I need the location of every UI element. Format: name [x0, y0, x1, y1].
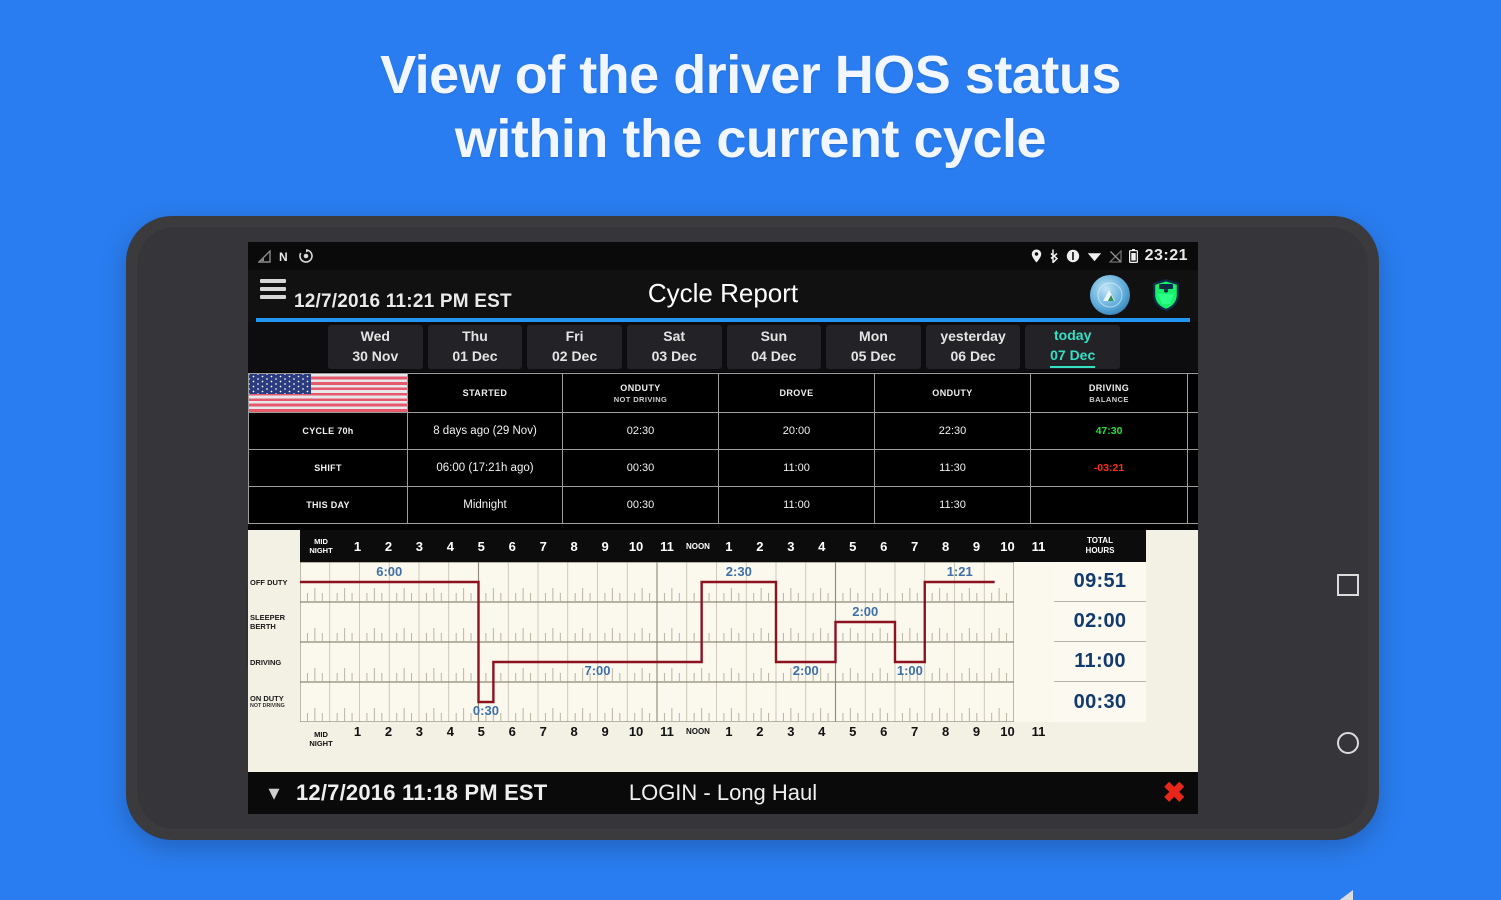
- balance-value: -03:21: [1094, 462, 1124, 474]
- total-line2: HOURS: [1086, 546, 1115, 556]
- hour-tick: 2: [744, 530, 775, 562]
- date-tab-today[interactable]: today 07 Dec: [1025, 325, 1120, 369]
- noon-tick: NOON: [682, 530, 713, 562]
- graph-hour-header: MID NIGHT 1 2 3 4 5 6 7 8 9 10 11 NOON 1…: [300, 530, 1146, 562]
- svg-text:0:30: 0:30: [473, 703, 499, 718]
- header-label: ONDUTY: [932, 388, 972, 398]
- row-drove: 11:00: [719, 487, 875, 523]
- phone-screen: N 23:21: [248, 242, 1198, 814]
- sync-icon: [299, 249, 313, 263]
- svg-text:1:21: 1:21: [947, 564, 973, 579]
- hour-tick: 7: [528, 722, 559, 756]
- date-tab-day: Fri: [566, 327, 584, 347]
- no-signal-icon: [1109, 250, 1122, 263]
- hour-tick: 3: [775, 530, 806, 562]
- summary-row-cycle: CYCLE 70h 8 days ago (29 Nov) 02:30 20:0…: [248, 413, 1198, 450]
- hour-tick: 6: [497, 530, 528, 562]
- graph-row-label-on-duty: ON DUTY NOT DRIVING: [248, 682, 300, 722]
- hour-tick: 11: [652, 722, 683, 756]
- hour-tick: 11: [1023, 722, 1054, 756]
- hour-tick: 3: [404, 722, 435, 756]
- hour-tick: 7: [528, 530, 559, 562]
- page-title: Cycle Report: [248, 278, 1198, 309]
- row-name: CYCLE 70h: [248, 413, 408, 449]
- summary-header-driving-balance: DRIVING BALANCE: [1031, 374, 1188, 412]
- globe-eld-icon[interactable]: [1090, 275, 1130, 315]
- graph-total-hours-header: TOTAL HOURS: [1054, 530, 1146, 562]
- row-label-text: DRIVING: [250, 658, 281, 667]
- duty-status-trace: 6:000:307:002:302:002:001:001:21: [300, 562, 1014, 722]
- hour-tick: 8: [930, 530, 961, 562]
- summary-header-started: STARTED: [408, 374, 563, 412]
- graph-body: OFF DUTY SLEEPER BERTH DRIVING ON DUTY N…: [300, 562, 1146, 722]
- date-tab-date: 05 Dec: [851, 347, 896, 367]
- graph-row-label-driving: DRIVING: [248, 642, 300, 682]
- graph-midnight-label: MID NIGHT: [300, 530, 342, 562]
- hour-tick: 1: [713, 722, 744, 756]
- hour-tick: 4: [435, 530, 466, 562]
- date-tab-0[interactable]: Wed 30 Nov: [328, 325, 423, 369]
- hour-tick: 11: [652, 530, 683, 562]
- header-sublabel: NOT DRIVING: [614, 395, 668, 404]
- hour-tick: 11: [1023, 530, 1054, 562]
- hour-tick: 7: [899, 722, 930, 756]
- midnight-line2: NIGHT: [309, 739, 332, 748]
- summary-header-onduty: ONDUTY: [875, 374, 1031, 412]
- wifi-icon: [1087, 250, 1102, 262]
- duty-status-graph-card: MID NIGHT 1 2 3 4 5 6 7 8 9 10 11 NOON 1…: [248, 530, 1198, 778]
- total-driving: 11:00: [1054, 642, 1146, 682]
- date-tab-4[interactable]: Sun 04 Dec: [727, 325, 822, 369]
- hour-tick: 3: [404, 530, 435, 562]
- date-tab-strip[interactable]: Wed 30 Nov Thu 01 Dec Fri 02 Dec Sat 03 …: [248, 322, 1198, 372]
- row-started: 8 days ago (29 Nov): [408, 413, 563, 449]
- hos-summary-table: STARTED ONDUTY NOT DRIVING DROVE ONDUTY …: [248, 372, 1198, 524]
- date-tab-day: Thu: [462, 327, 488, 347]
- hour-tick: 1: [342, 722, 373, 756]
- us-flag-icon: [248, 374, 408, 412]
- row-name: THIS DAY: [248, 487, 408, 523]
- promo-headline: View of the driver HOS status within the…: [0, 44, 1501, 171]
- date-tab-date: 30 Nov: [352, 347, 398, 367]
- hour-tick: 4: [435, 722, 466, 756]
- row-label-text: ON DUTY: [250, 694, 284, 703]
- date-tab-day: Wed: [361, 327, 390, 347]
- date-tab-3[interactable]: Sat 03 Dec: [627, 325, 722, 369]
- summary-row-shift: SHIFT 06:00 (17:21h ago) 00:30 11:00 11:…: [248, 450, 1198, 487]
- hour-tick: 4: [806, 722, 837, 756]
- event-description: LOGIN - Long Haul: [248, 780, 1198, 806]
- promo-headline-line1: View of the driver HOS status: [380, 45, 1121, 105]
- graph-row-label-sleeper-berth: SLEEPER BERTH: [248, 602, 300, 642]
- battery-icon: [1129, 249, 1138, 263]
- row-started: 06:00 (17:21h ago): [408, 450, 563, 486]
- location-icon: [1031, 249, 1042, 263]
- total-sleeper-berth: 02:00: [1054, 602, 1146, 642]
- hour-tick: 8: [930, 722, 961, 756]
- row-onduty-not-driving: 00:30: [563, 487, 719, 523]
- total-on-duty: 00:30: [1054, 682, 1146, 722]
- graph-hour-ticks-top: 1 2 3 4 5 6 7 8 9 10 11 NOON 1 2 3 4 5 6…: [342, 530, 1054, 562]
- hour-tick: 6: [868, 722, 899, 756]
- graph-row-labels: OFF DUTY SLEEPER BERTH DRIVING ON DUTY N…: [248, 562, 300, 722]
- hour-tick: 10: [621, 722, 652, 756]
- row-name: SHIFT: [248, 450, 408, 486]
- row-label-text: OFF DUTY: [250, 578, 288, 587]
- row-label-sub: NOT DRIVING: [250, 703, 285, 709]
- status-bar-clock: 23:21: [1145, 247, 1188, 265]
- hour-tick: 8: [559, 530, 590, 562]
- row-label-sub: BERTH: [250, 622, 276, 631]
- hour-tick: 6: [868, 530, 899, 562]
- hour-tick: 8: [559, 722, 590, 756]
- header-label: DRIVING: [1089, 383, 1129, 393]
- svg-text:2:30: 2:30: [726, 564, 752, 579]
- summary-header-onduty-not-driving: ONDUTY NOT DRIVING: [563, 374, 719, 412]
- hour-tick: 1: [713, 530, 744, 562]
- date-tab-date: 07 Dec: [1050, 346, 1095, 368]
- date-tab-date: 01 Dec: [452, 347, 497, 367]
- date-tab-date: 06 Dec: [950, 347, 995, 367]
- hour-tick: 5: [466, 530, 497, 562]
- midnight-line1: MID: [314, 537, 328, 546]
- date-tab-1[interactable]: Thu 01 Dec: [428, 325, 523, 369]
- hour-tick: 7: [899, 530, 930, 562]
- row-label-text: SLEEPER: [250, 613, 285, 622]
- hour-tick: 10: [992, 530, 1023, 562]
- date-tab-date: 02 Dec: [552, 347, 597, 367]
- hour-tick: 9: [961, 722, 992, 756]
- android-status-bar: N 23:21: [248, 242, 1198, 270]
- navigation-keys: [1321, 456, 1381, 900]
- hour-tick: 4: [806, 530, 837, 562]
- header-sublabel: BALANCE: [1089, 395, 1128, 404]
- app-bar-actions: [1090, 275, 1186, 315]
- svg-text:2:00: 2:00: [852, 604, 878, 619]
- event-log-bar[interactable]: ▾ 12/7/2016 11:18 PM EST LOGIN - Long Ha…: [248, 772, 1198, 814]
- hour-tick: 10: [992, 722, 1023, 756]
- midnight-line1: MID: [314, 730, 328, 739]
- duty-status-grid[interactable]: 6:000:307:002:302:002:001:001:21: [300, 562, 1054, 722]
- back-triangle-icon[interactable]: [1337, 890, 1353, 900]
- row-driving-balance: [1031, 487, 1188, 523]
- home-circle-icon[interactable]: [1337, 732, 1359, 754]
- row-onduty: 22:30: [875, 413, 1031, 449]
- app-bar-accent-line: [256, 318, 1190, 322]
- date-tab-day: Sun: [761, 327, 787, 347]
- row-driving-balance: -03:21: [1031, 450, 1188, 486]
- svg-text:6:00: 6:00: [376, 564, 402, 579]
- hour-tick: 10: [621, 530, 652, 562]
- shield-truck-icon[interactable]: [1146, 275, 1186, 315]
- graph-hour-ticks-bottom: 1 2 3 4 5 6 7 8 9 10 11 NOON 1 2 3 4 5 6…: [342, 722, 1054, 756]
- hour-tick: 5: [466, 722, 497, 756]
- total-off-duty: 09:51: [1054, 562, 1146, 602]
- row-onduty: 11:30: [875, 450, 1031, 486]
- recents-square-icon[interactable]: [1337, 574, 1359, 596]
- hour-tick: 6: [497, 722, 528, 756]
- summary-row-this-day: THIS DAY Midnight 00:30 11:00 11:30: [248, 487, 1198, 524]
- svg-text:N: N: [279, 250, 288, 263]
- midnight-line2: NIGHT: [309, 546, 332, 555]
- svg-text:2:00: 2:00: [793, 663, 819, 678]
- graph-row-label-off-duty: OFF DUTY: [248, 562, 300, 602]
- alarm-icon: [1066, 249, 1080, 263]
- date-tab-2[interactable]: Fri 02 Dec: [527, 325, 622, 369]
- graph-footer-spacer: [1054, 722, 1146, 756]
- summary-header-row: STARTED ONDUTY NOT DRIVING DROVE ONDUTY …: [248, 373, 1198, 413]
- date-tab-day: today: [1054, 326, 1091, 346]
- svg-text:7:00: 7:00: [584, 663, 610, 678]
- hour-tick: 5: [837, 530, 868, 562]
- hour-tick: 9: [590, 722, 621, 756]
- row-onduty: 11:30: [875, 487, 1031, 523]
- hour-tick: 3: [775, 722, 806, 756]
- hour-tick: 2: [744, 722, 775, 756]
- graph-midnight-label-bottom: MID NIGHT: [300, 722, 342, 756]
- hour-tick: 2: [373, 530, 404, 562]
- hour-tick: 9: [961, 530, 992, 562]
- app-bar: 12/7/2016 11:21 PM EST Cycle Report: [248, 270, 1198, 322]
- hour-tick: 1: [342, 530, 373, 562]
- row-drove: 20:00: [719, 413, 875, 449]
- signal-triangle-icon: [258, 250, 272, 263]
- row-started: Midnight: [408, 487, 563, 523]
- date-tab-day: Sat: [663, 327, 685, 347]
- total-line1: TOTAL: [1087, 536, 1113, 546]
- row-onduty-not-driving: 00:30: [563, 450, 719, 486]
- date-tab-6[interactable]: yesterday 06 Dec: [926, 325, 1021, 369]
- summary-header-drove: DROVE: [719, 374, 875, 412]
- balance-value: 47:30: [1096, 425, 1123, 437]
- graph-total-hours-column: 09:51 02:00 11:00 00:30: [1054, 562, 1146, 722]
- date-tab-date: 03 Dec: [652, 347, 697, 367]
- date-tab-day: Mon: [859, 327, 888, 347]
- graph-hour-footer: MID NIGHT 1 2 3 4 5 6 7 8 9 10 11 NOON 1…: [300, 722, 1146, 756]
- hour-tick: 2: [373, 722, 404, 756]
- hour-tick: 9: [590, 530, 621, 562]
- header-label: STARTED: [463, 388, 508, 398]
- row-drove: 11:00: [719, 450, 875, 486]
- noon-tick: NOON: [682, 722, 713, 756]
- close-x-icon[interactable]: ✖: [1163, 779, 1186, 807]
- row-driving-balance: 47:30: [1031, 413, 1188, 449]
- nfc-icon: N: [279, 250, 292, 263]
- bluetooth-icon: [1049, 249, 1059, 263]
- date-tab-day: yesterday: [940, 327, 1005, 347]
- promo-headline-line2: within the current cycle: [0, 108, 1501, 172]
- header-label: ONDUTY: [620, 383, 660, 393]
- hour-tick: 5: [837, 722, 868, 756]
- date-tab-date: 04 Dec: [751, 347, 796, 367]
- row-onduty-not-driving: 02:30: [563, 413, 719, 449]
- date-tab-5[interactable]: Mon 05 Dec: [826, 325, 921, 369]
- header-label: DROVE: [779, 388, 813, 398]
- svg-text:1:00: 1:00: [897, 663, 923, 678]
